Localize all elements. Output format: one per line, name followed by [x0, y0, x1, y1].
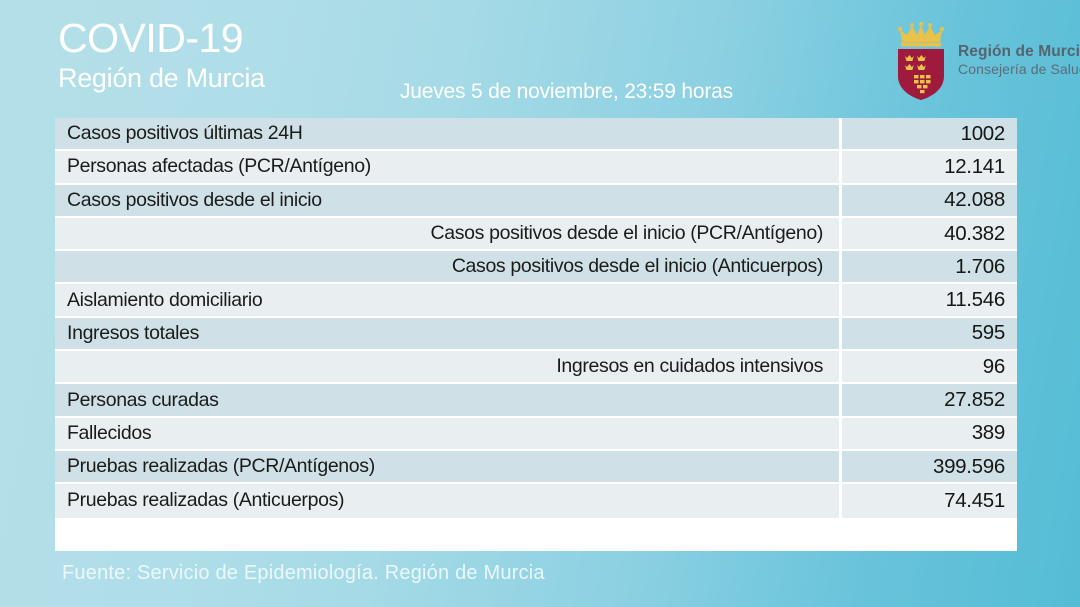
- report-date: Jueves 5 de noviembre, 23:59 horas: [400, 80, 733, 104]
- row-label: Aislamiento domiciliario: [55, 284, 842, 317]
- source-footnote: Fuente: Servicio de Epidemiología. Regió…: [62, 562, 545, 585]
- row-value: 1.706: [842, 251, 1017, 284]
- row-value: 96: [842, 351, 1017, 384]
- row-value: 399.596: [842, 451, 1017, 484]
- table-row: Casos positivos desde el inicio (PCR/Ant…: [55, 218, 1017, 251]
- table-row: Casos positivos últimas 24H1002: [55, 118, 1017, 151]
- header: COVID-19 Región de Murcia Jueves 5 de no…: [0, 0, 1080, 118]
- row-value: 40.382: [842, 218, 1017, 251]
- row-value: 27.852: [842, 384, 1017, 417]
- row-label: Ingresos totales: [55, 318, 842, 351]
- table-row: Fallecidos389: [55, 418, 1017, 451]
- table-row: Pruebas realizadas (Anticuerpos)74.451: [55, 484, 1017, 517]
- table-row: Personas afectadas (PCR/Antígeno)12.141: [55, 151, 1017, 184]
- table-row: Personas curadas27.852: [55, 384, 1017, 417]
- row-label: Pruebas realizadas (Anticuerpos): [55, 484, 842, 517]
- row-label: Casos positivos desde el inicio (PCR/Ant…: [55, 218, 842, 251]
- page-subtitle: Región de Murcia: [58, 65, 265, 92]
- row-value: 42.088: [842, 185, 1017, 218]
- table-row: Ingresos en cuidados intensivos96: [55, 351, 1017, 384]
- row-value: 74.451: [842, 484, 1017, 517]
- infographic-slide: COVID-19 Región de Murcia Jueves 5 de no…: [0, 0, 1080, 607]
- row-value: 11.546: [842, 284, 1017, 317]
- table-row: Casos positivos desde el inicio (Anticue…: [55, 251, 1017, 284]
- coat-of-arms-icon: [890, 20, 952, 102]
- region-de-murcia-logo: Región de Murcia Consejería de Salud: [890, 20, 1065, 105]
- page-title: COVID-19: [58, 18, 265, 59]
- row-label: Casos positivos últimas 24H: [55, 118, 842, 151]
- statistics-table: Casos positivos últimas 24H1002Personas …: [55, 118, 1017, 551]
- title-block: COVID-19 Región de Murcia: [58, 18, 265, 92]
- row-label: Casos positivos desde el inicio: [55, 185, 842, 218]
- row-value: 595: [842, 318, 1017, 351]
- logo-department-name: Consejería de Salud: [958, 61, 1080, 78]
- table-row: Casos positivos desde el inicio42.088: [55, 185, 1017, 218]
- row-label: Casos positivos desde el inicio (Anticue…: [55, 251, 842, 284]
- row-label: Ingresos en cuidados intensivos: [55, 351, 842, 384]
- row-value: 1002: [842, 118, 1017, 151]
- row-value: 389: [842, 418, 1017, 451]
- table-row: Ingresos totales595: [55, 318, 1017, 351]
- table-row: Aislamiento domiciliario11.546: [55, 284, 1017, 317]
- row-value: 12.141: [842, 151, 1017, 184]
- logo-text: Región de Murcia Consejería de Salud: [958, 43, 1080, 78]
- row-label: Fallecidos: [55, 418, 842, 451]
- row-label: Personas afectadas (PCR/Antígeno): [55, 151, 842, 184]
- logo-region-name: Región de Murcia: [958, 43, 1080, 61]
- row-label: Personas curadas: [55, 384, 842, 417]
- row-label: Pruebas realizadas (PCR/Antígenos): [55, 451, 842, 484]
- table-row: Pruebas realizadas (PCR/Antígenos)399.59…: [55, 451, 1017, 484]
